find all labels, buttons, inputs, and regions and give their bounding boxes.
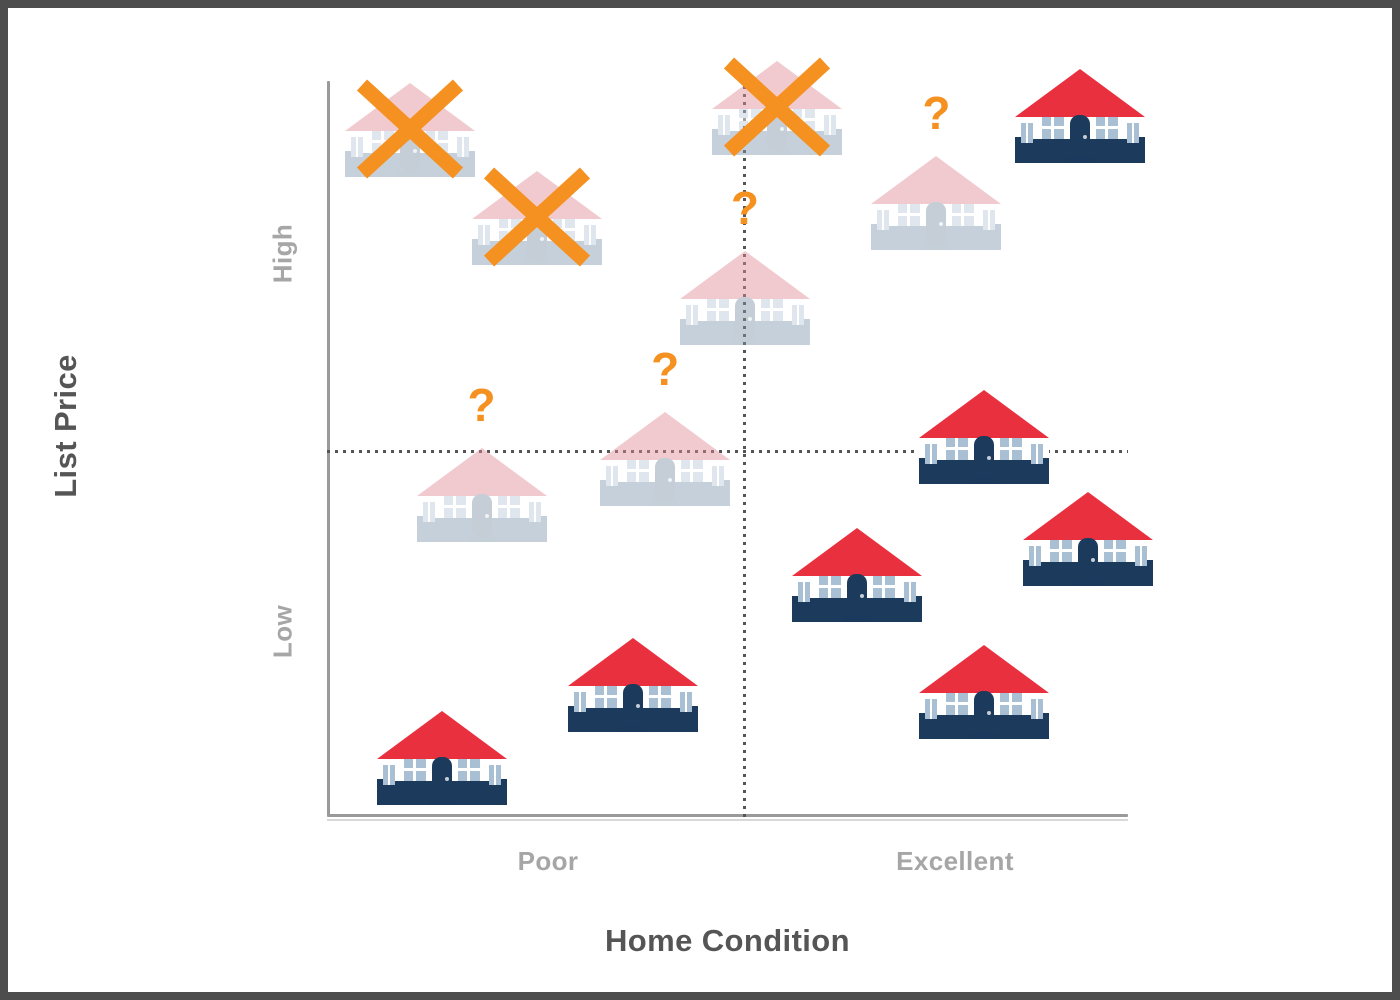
x-axis-title: Home Condition — [327, 923, 1128, 959]
house-icon — [782, 520, 932, 628]
data-point-house-h7[interactable]: ? — [407, 440, 557, 548]
question-mark-icon: ? — [922, 90, 950, 136]
y-tick-high: High — [268, 184, 299, 324]
house-icon — [670, 243, 820, 351]
house-icon — [558, 630, 708, 738]
house-icon — [909, 382, 1059, 490]
house-icon — [407, 440, 557, 548]
y-tick-low: Low — [268, 562, 299, 702]
question-mark-icon: ? — [731, 185, 759, 231]
house-icon — [462, 163, 612, 271]
data-point-house-h14[interactable] — [367, 703, 517, 811]
question-mark-icon: ? — [651, 346, 679, 392]
house-icon — [367, 703, 517, 811]
question-mark-icon: ? — [468, 382, 496, 428]
y-axis-line — [327, 81, 330, 816]
data-point-house-h4[interactable]: ? — [861, 148, 1011, 256]
data-point-house-h10[interactable] — [1013, 484, 1163, 592]
chart-canvas: List Price High Low Home Condition Poor … — [8, 8, 1392, 992]
data-point-house-h5[interactable] — [1005, 61, 1155, 169]
data-point-house-h9[interactable] — [909, 382, 1059, 490]
house-icon — [702, 53, 852, 161]
house-icon — [861, 148, 1011, 256]
data-point-house-h3[interactable] — [702, 53, 852, 161]
data-point-house-h8[interactable]: ? — [590, 404, 740, 512]
data-point-house-h2[interactable] — [462, 163, 612, 271]
x-axis-line — [327, 814, 1128, 817]
house-icon — [1005, 61, 1155, 169]
house-icon — [590, 404, 740, 512]
x-tick-poor: Poor — [438, 846, 658, 877]
data-point-house-h13[interactable] — [909, 637, 1059, 745]
y-axis-title: List Price — [48, 316, 84, 536]
house-icon — [1013, 484, 1163, 592]
x-axis-shadow — [327, 819, 1128, 821]
x-tick-excellent: Excellent — [845, 846, 1065, 877]
data-point-house-h6[interactable]: ? — [670, 243, 820, 351]
house-icon — [909, 637, 1059, 745]
data-point-house-h11[interactable] — [782, 520, 932, 628]
data-point-house-h12[interactable] — [558, 630, 708, 738]
